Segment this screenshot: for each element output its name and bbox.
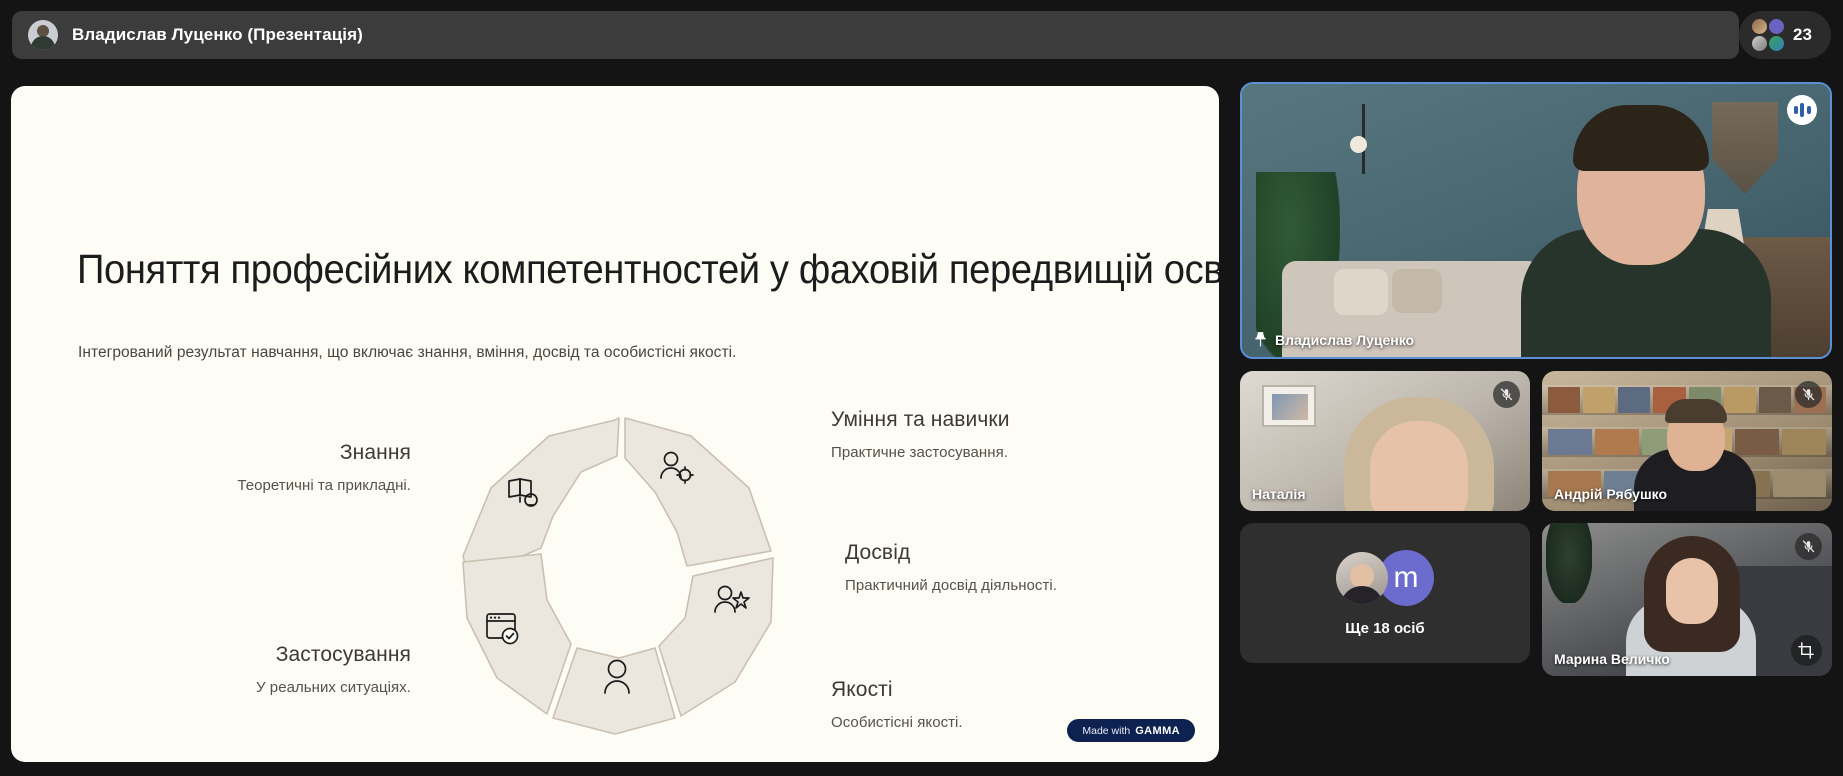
audio-bar-1 <box>1794 106 1798 114</box>
avatar-body-shape <box>31 36 55 50</box>
pin-icon <box>1254 331 1267 348</box>
main-speaker-name: Владислав Луценко <box>1275 332 1414 348</box>
segment-skills <box>625 418 771 566</box>
cluster-avatar-2 <box>1768 18 1785 35</box>
video-tile-andrii[interactable]: Андрій Рябушко <box>1542 371 1832 511</box>
label-knowledge-title: Знання <box>111 441 411 465</box>
slide-title: Поняття професійних компетентностей у фа… <box>77 246 1219 293</box>
gamma-brand-text: GAMMA <box>1135 725 1180 737</box>
presentation-title: Владислав Луценко (Презентація) <box>72 25 363 45</box>
maryna-face <box>1666 558 1718 624</box>
participants-pill[interactable]: 23 <box>1739 11 1831 59</box>
cluster-avatar-3 <box>1751 35 1768 52</box>
microphone-muted-icon[interactable] <box>1493 381 1520 408</box>
maryna-plant <box>1546 523 1592 603</box>
presentation-header-bar: Владислав Луценко (Презентація) <box>12 11 1739 59</box>
label-experience-desc: Практичний досвід діяльності. <box>845 577 1185 594</box>
label-qualities-title: Якості <box>831 678 1171 702</box>
video-tile-more-people[interactable]: m Ще 18 осіб <box>1240 523 1530 663</box>
label-application-title: Застосування <box>111 643 411 667</box>
label-skills: Уміння та навички Практичне застосування… <box>831 408 1171 461</box>
label-skills-desc: Практичне застосування. <box>831 444 1171 461</box>
participants-count: 23 <box>1793 25 1812 45</box>
sofa-pillow-left <box>1334 269 1388 315</box>
microphone-muted-icon[interactable] <box>1795 533 1822 560</box>
video-tile-natalia[interactable]: Наталія <box>1240 371 1530 511</box>
label-skills-title: Уміння та навички <box>831 408 1171 432</box>
label-knowledge-desc: Теоретичні та прикладні. <box>111 477 411 494</box>
competency-donut-diagram <box>429 396 809 736</box>
wall-picture-frame <box>1262 385 1316 427</box>
audio-bar-3 <box>1807 106 1811 114</box>
presenter-avatar <box>28 20 58 50</box>
more-avatar-body <box>1340 586 1384 604</box>
natalia-name-row: Наталія <box>1252 486 1306 502</box>
more-people-avatars: m <box>1336 550 1434 606</box>
andrii-name: Андрій Рябушко <box>1554 486 1667 502</box>
audio-active-icon <box>1787 95 1817 125</box>
more-avatar-photo <box>1336 552 1388 604</box>
sofa-pillow-right <box>1392 269 1442 313</box>
microphone-muted-icon[interactable] <box>1795 381 1822 408</box>
natalia-name: Наталія <box>1252 486 1306 502</box>
maryna-name: Марина Величко <box>1554 651 1670 667</box>
maryna-name-row: Марина Величко <box>1554 651 1670 667</box>
video-tiles-panel: Владислав Луценко Наталія <box>1240 82 1832 776</box>
floor-lamp-bulb <box>1350 136 1367 153</box>
label-experience: Досвід Практичний досвід діяльності. <box>845 541 1185 594</box>
audio-bar-2 <box>1800 103 1804 117</box>
video-tile-main-speaker[interactable]: Владислав Луценко <box>1240 82 1832 359</box>
label-application: Застосування У реальних ситуаціях. <box>111 643 411 696</box>
video-tile-maryna[interactable]: Марина Величко <box>1542 523 1832 676</box>
participant-avatar-cluster <box>1751 18 1785 52</box>
more-people-content: m Ще 18 осіб <box>1240 523 1530 663</box>
cluster-avatar-4 <box>1768 35 1785 52</box>
made-with-gamma-badge[interactable]: Made with GAMMA <box>1067 719 1195 742</box>
main-speaker-name-row: Владислав Луценко <box>1254 331 1414 348</box>
label-knowledge: Знання Теоретичні та прикладні. <box>111 441 411 494</box>
gamma-made-with-text: Made with <box>1082 725 1130 737</box>
cluster-avatar-1 <box>1751 18 1768 35</box>
presentation-slide[interactable]: Поняття професійних компетентностей у фа… <box>11 86 1219 762</box>
more-avatar-head <box>1350 564 1374 588</box>
crop-icon[interactable] <box>1791 635 1822 666</box>
label-experience-title: Досвід <box>845 541 1185 565</box>
natalia-face <box>1370 421 1468 511</box>
main-speaker-figure <box>1521 102 1771 357</box>
andrii-hair <box>1665 399 1727 423</box>
andrii-name-row: Андрій Рябушко <box>1554 486 1667 502</box>
more-people-label: Ще 18 осіб <box>1345 620 1424 637</box>
slide-subtitle: Інтегрований результат навчання, що вклю… <box>78 344 736 362</box>
label-application-desc: У реальних ситуаціях. <box>111 679 411 696</box>
speaker-hair <box>1573 105 1709 171</box>
segment-experience <box>659 558 773 716</box>
natalia-figure <box>1344 397 1494 511</box>
